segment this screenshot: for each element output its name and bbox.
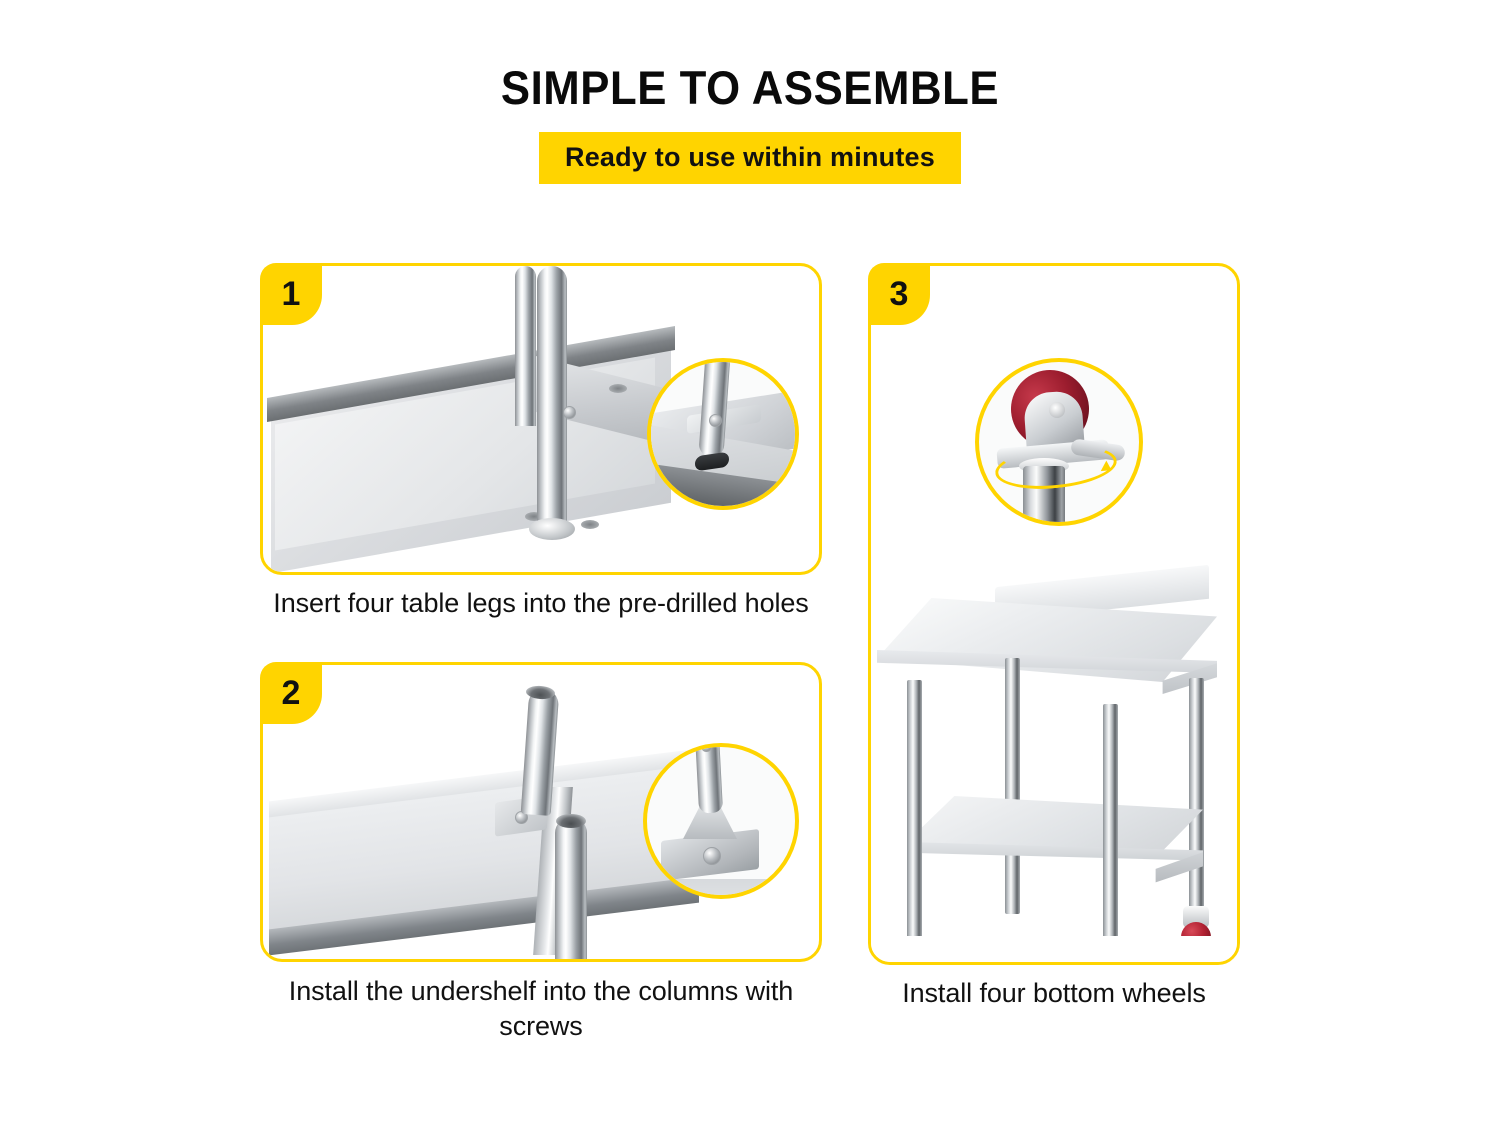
table-leg-back-left — [1005, 658, 1020, 914]
column-opening-lower — [556, 814, 586, 828]
step-panel-1: 1 — [260, 263, 822, 575]
step-caption-1: Insert four table legs into the pre-dril… — [260, 586, 822, 621]
step-panel-2: 2 — [260, 662, 822, 962]
chrome-column-lower — [555, 817, 587, 959]
screw-icon — [709, 414, 722, 427]
chrome-leg-front — [537, 266, 567, 538]
detail-callout-art-3 — [975, 358, 1143, 526]
leg-base-flange — [529, 518, 575, 540]
subtitle-container: Ready to use within minutes — [0, 132, 1500, 184]
table-leg-front-right — [1103, 704, 1118, 962]
step-number-badge-3: 3 — [868, 263, 930, 325]
chrome-leg-rear — [515, 266, 536, 426]
detail-callout-2 — [643, 743, 799, 899]
pre-drilled-hole — [609, 384, 627, 393]
table-leg-back-right — [1189, 678, 1204, 934]
pre-drilled-hole — [581, 520, 599, 529]
step-image-3 — [871, 562, 1237, 962]
subtitle-banner: Ready to use within minutes — [539, 132, 961, 184]
step-caption-3: Install four bottom wheels — [848, 976, 1260, 1011]
detail-callout-art-2 — [643, 743, 799, 899]
photo-bottom-mask — [871, 936, 1237, 962]
screw-icon — [563, 406, 576, 419]
detail-callout-3 — [975, 358, 1143, 526]
step-number-badge-2: 2 — [260, 662, 322, 724]
step-panel-3: 3 — [868, 263, 1240, 965]
table-leg-front-left — [907, 680, 922, 962]
page-title: SIMPLE TO ASSEMBLE — [53, 64, 1448, 111]
detail-callout-art-1 — [647, 358, 799, 510]
screw-icon — [703, 847, 721, 865]
caster-yoke-hole — [1049, 402, 1065, 418]
detail-callout-1 — [647, 358, 799, 510]
chrome-column-closeup — [695, 743, 723, 814]
step-caption-2: Install the undershelf into the columns … — [260, 974, 822, 1044]
header: SIMPLE TO ASSEMBLE Ready to use within m… — [0, 0, 1500, 184]
step-number-badge-1: 1 — [260, 263, 322, 325]
